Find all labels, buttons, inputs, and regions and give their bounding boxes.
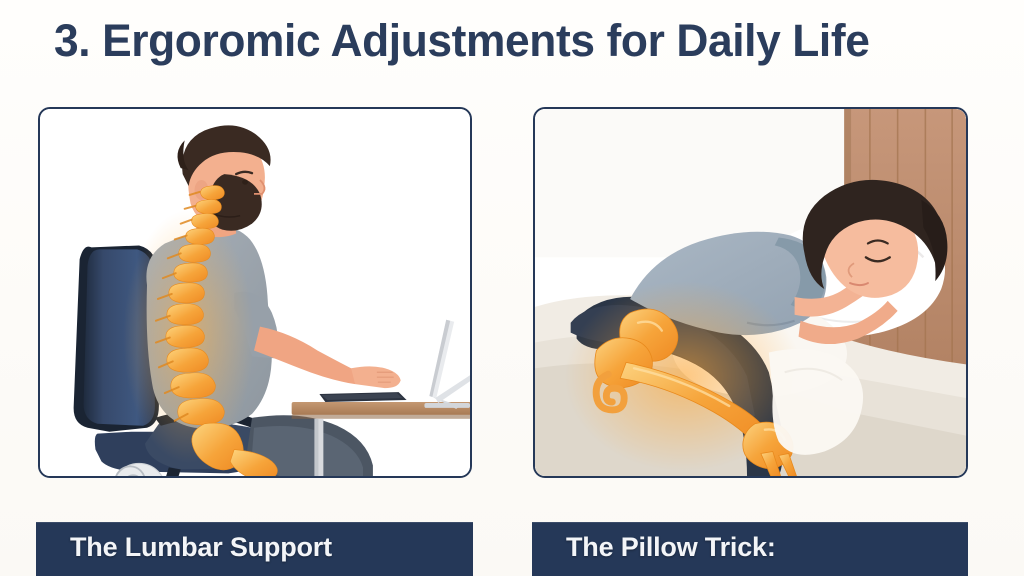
card-pillow-trick[interactable] [533,107,968,478]
card-lumbar-support[interactable] [38,107,472,478]
illustration-man-sitting-at-desk [40,109,470,476]
caption-label-lumbar-support: The Lumbar Support [70,532,332,563]
caption-bar-pillow-trick: The Pillow Trick: [532,522,968,576]
caption-bar-lumbar-support: The Lumbar Support [36,522,473,576]
illustration-woman-sleeping-side [535,109,966,476]
page-title: 3. Ergoromic Adjustments for Daily Life [54,12,960,72]
slide-root: 3. Ergoromic Adjustments for Daily Life [0,0,1024,576]
caption-label-pillow-trick: The Pillow Trick: [566,532,776,563]
